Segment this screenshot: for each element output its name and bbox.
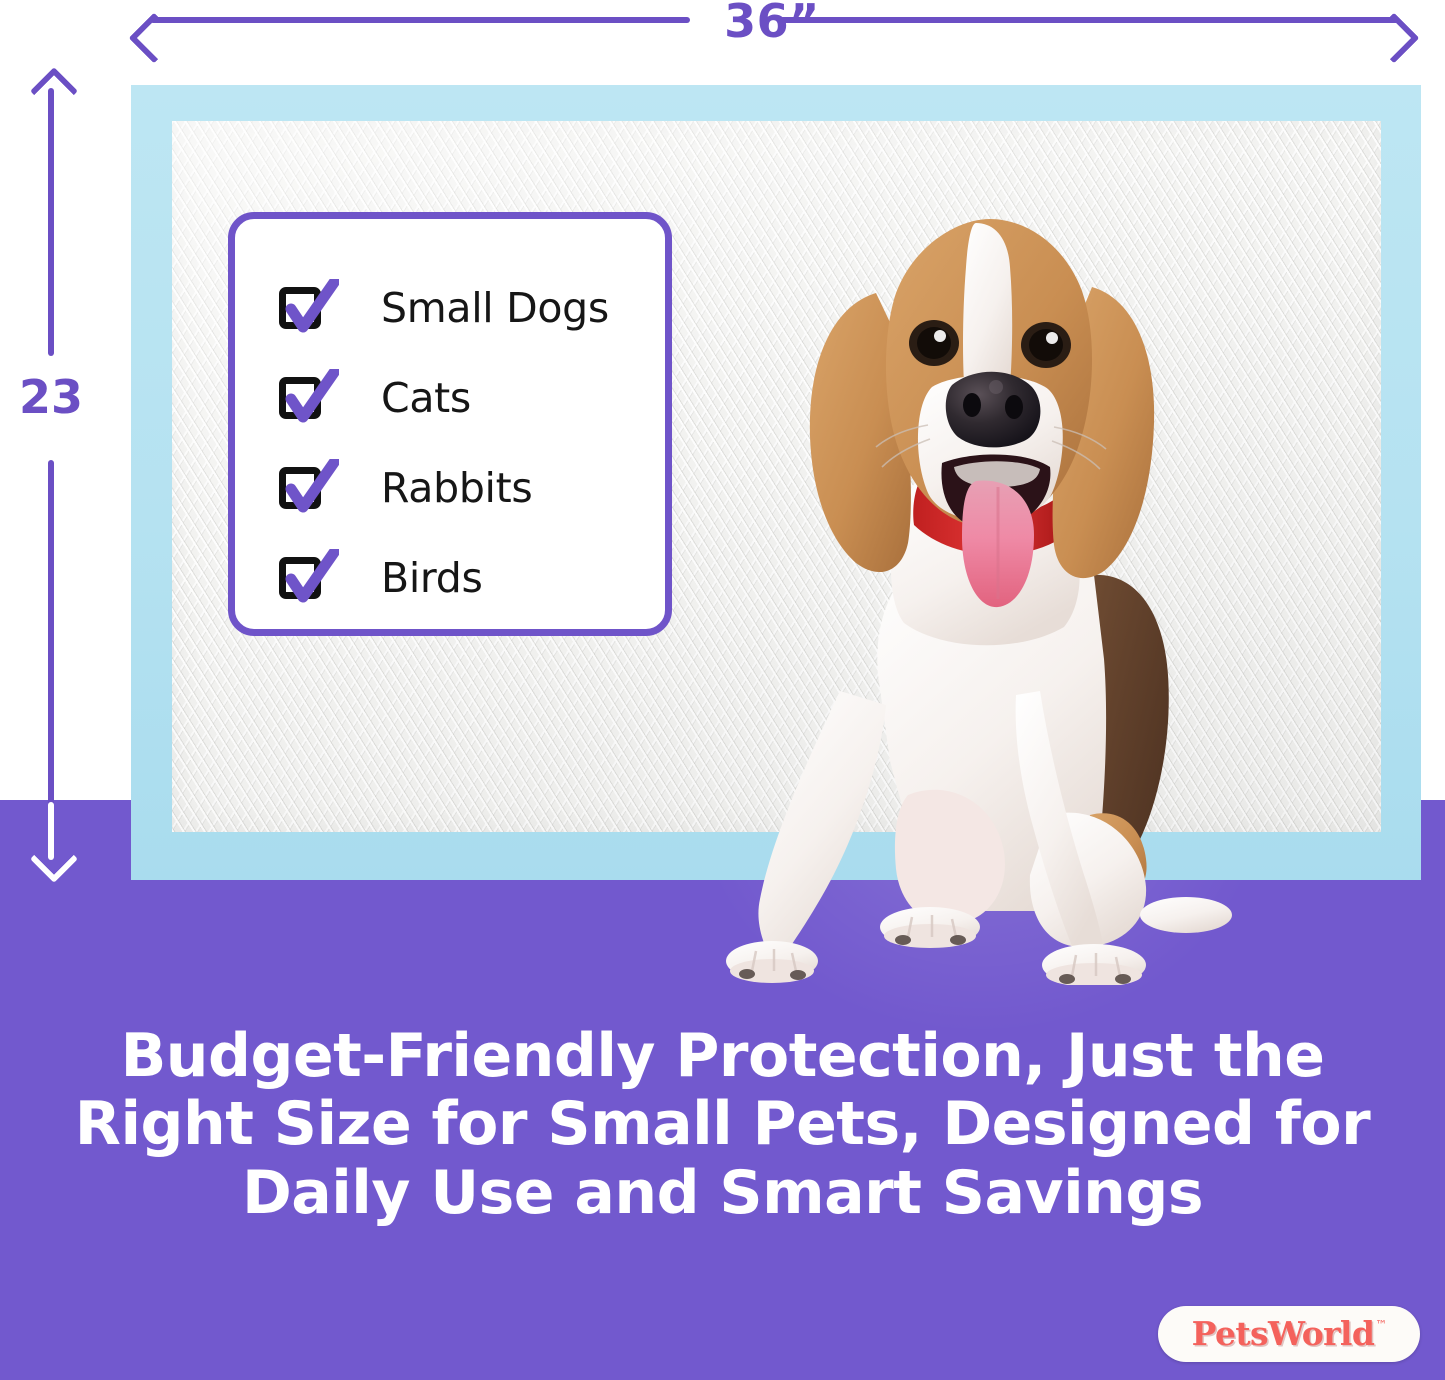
headline-line-3: Daily Use and Smart Savings [60, 1159, 1385, 1227]
checklist-item-label: Rabbits [381, 464, 533, 512]
checklist-item-label: Small Dogs [381, 284, 609, 332]
headline-line-1: Budget-Friendly Protection, Just the [60, 1022, 1385, 1090]
checklist-item: Small Dogs [277, 263, 665, 353]
width-dimension-label: 36” [697, 0, 847, 48]
dimension-line-left-lower [48, 460, 54, 812]
checked-checkbox-icon [277, 549, 339, 607]
dimension-arrow-up-icon [30, 67, 78, 115]
suitable-pets-checklist: Small Dogs Cats Rabbits [228, 212, 672, 636]
product-marketing-image: 36” 23 Small Dogs Cats [0, 0, 1445, 1380]
petsworld-logo: PetsWorld™ [1158, 1306, 1420, 1362]
height-dimension-label: 23 [8, 370, 94, 424]
checked-checkbox-icon [277, 459, 339, 517]
checked-checkbox-icon [277, 279, 339, 337]
checklist-item: Birds [277, 533, 665, 623]
dimension-line-top-left [150, 17, 690, 23]
brand-name: PetsWorld [1192, 1314, 1375, 1353]
dimension-line-top-right [780, 17, 1400, 23]
checklist-item: Cats [277, 353, 665, 443]
checklist-item: Rabbits [277, 443, 665, 533]
checklist-item-label: Cats [381, 374, 471, 422]
trademark-symbol: ™ [1375, 1318, 1387, 1332]
checklist-item-label: Birds [381, 554, 483, 602]
checked-checkbox-icon [277, 369, 339, 427]
marketing-headline: Budget-Friendly Protection, Just the Rig… [60, 1022, 1385, 1227]
dimension-line-left-upper [48, 88, 54, 356]
headline-line-2: Right Size for Small Pets, Designed for [60, 1090, 1385, 1158]
beagle-dog-image [690, 175, 1270, 985]
